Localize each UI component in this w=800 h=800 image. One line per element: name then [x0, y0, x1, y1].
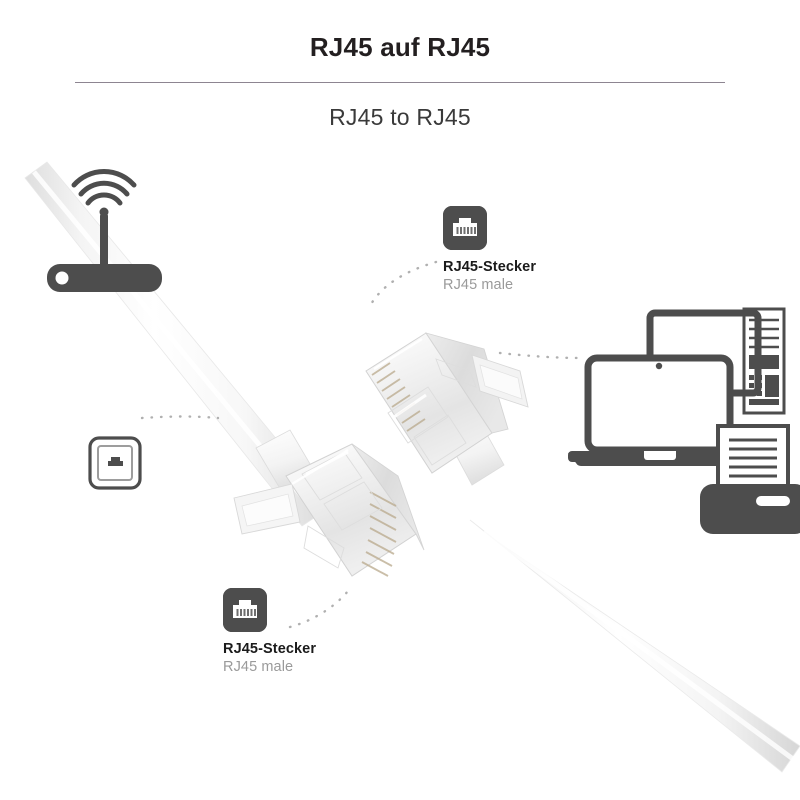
- diagram-stage: RJ45-Stecker RJ45 male RJ45-Stecker RJ45…: [0, 150, 800, 800]
- header: RJ45 auf RJ45 RJ45 to RJ45: [0, 0, 800, 150]
- callout-label-de: RJ45-Stecker: [223, 641, 316, 657]
- leader-plug-to-devices: [500, 353, 580, 358]
- callout-rj45-top: RJ45-Stecker RJ45 male: [443, 206, 536, 293]
- callout-label-en: RJ45 male: [443, 277, 536, 293]
- leader-router-to-cable: [142, 417, 218, 419]
- callout-label-de: RJ45-Stecker: [443, 259, 536, 275]
- wall-socket-icon: [90, 438, 140, 488]
- callout-label-en: RJ45 male: [223, 659, 316, 675]
- callout-rj45-bottom: RJ45-Stecker RJ45 male: [223, 588, 316, 675]
- page-title-de: RJ45 auf RJ45: [0, 32, 800, 63]
- diagram-artwork: [0, 150, 800, 800]
- desktop-tower-icon: [744, 309, 784, 413]
- rj45-port-icon: [443, 206, 487, 250]
- rj45-plug-upper: [366, 333, 528, 485]
- rj45-port-icon: [223, 588, 267, 632]
- page-subtitle-en: RJ45 to RJ45: [0, 104, 800, 131]
- header-divider: [75, 82, 725, 83]
- cable-segment-right: [470, 520, 800, 772]
- leader-top-callout-to-plug: [370, 262, 436, 306]
- rj45-plug-lower: [234, 430, 424, 576]
